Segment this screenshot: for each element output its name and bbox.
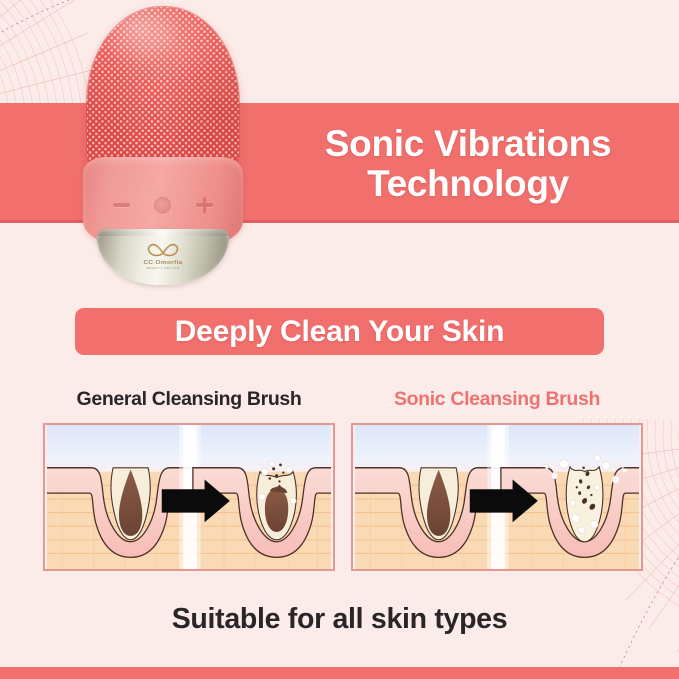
infinity-heart-icon [144, 241, 182, 258]
hero-banner-line-1: Sonic Vibrations [325, 124, 611, 164]
skin-diagram-general [43, 423, 335, 571]
comparison-section: General Cleansing Brush [0, 386, 679, 576]
skin-diagram-sonic [351, 423, 643, 571]
brand-logo: CC Omorfia BEAUTY DEVICE [97, 241, 229, 270]
power-icon [154, 197, 171, 214]
brand-wordmark: CC Omorfia [143, 260, 182, 266]
deeply-clean-headline-text: Deeply Clean Your Skin [175, 315, 505, 349]
product-device-image: CC Omorfia BEAUTY DEVICE [83, 7, 243, 285]
device-control-row [83, 193, 243, 217]
device-metallic-base: CC Omorfia BEAUTY DEVICE [97, 229, 229, 285]
plus-icon [196, 197, 213, 214]
deeply-clean-headline-pill: Deeply Clean Your Skin [75, 308, 604, 355]
comparison-column-sonic: Sonic Cleansing Brush [351, 386, 643, 571]
brand-tagline: BEAUTY DEVICE [146, 266, 179, 269]
minus-icon [113, 203, 130, 207]
hero-banner-heading: Sonic Vibrations Technology [268, 106, 668, 221]
bottom-accent-strip [0, 667, 679, 679]
comparison-title-general: General Cleansing Brush [43, 386, 335, 414]
hero-banner-line-2: Technology [367, 164, 569, 204]
comparison-title-sonic: Sonic Cleansing Brush [351, 386, 643, 414]
comparison-column-general: General Cleansing Brush [43, 386, 335, 571]
infographic-page: Sonic Vibrations Technology [0, 0, 679, 679]
bottom-caption: Suitable for all skin types [0, 603, 679, 636]
